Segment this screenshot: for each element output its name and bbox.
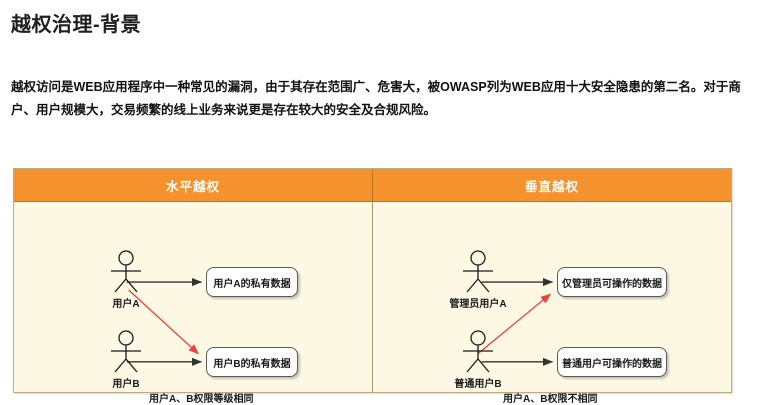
data-box-user-a-private-data: 用户A的私有数据 <box>206 267 298 297</box>
table-header-row: 水平越权 垂直越权 <box>14 169 731 202</box>
actor-label-user-a: 用户A <box>97 295 155 310</box>
table-header-horizontal: 水平越权 <box>14 169 373 201</box>
comparison-table: 水平越权 垂直越权 <box>13 168 732 393</box>
table-header-vertical: 垂直越权 <box>373 169 731 201</box>
stick-figure-icon <box>97 250 155 294</box>
stick-figure-icon <box>449 250 507 294</box>
arrow-layer-right <box>373 202 731 393</box>
stick-figure-icon <box>97 330 155 374</box>
data-box-normal-user-data: 普通用户可操作的数据 <box>557 347 667 377</box>
actor-user-a: 用户A <box>97 250 155 310</box>
actor-user-b: 用户B <box>97 330 155 390</box>
data-box-user-b-private-data: 用户B的私有数据 <box>206 347 298 377</box>
table-body-row: 用户A 用户B 用户A的私有数据 用户B的私有数据 用户A、B权限等级相同 <box>14 202 731 393</box>
actor-label-normal-user-b: 普通用户B <box>449 375 507 390</box>
actor-normal-user-b: 普通用户B <box>449 330 507 390</box>
actor-label-admin-user-a: 管理员用户A <box>449 295 507 310</box>
arrow-layer-left <box>14 202 372 393</box>
stick-figure-icon <box>449 330 507 374</box>
page-title: 越权治理-背景 <box>11 8 141 37</box>
panel-caption-horizontal: 用户A、B权限等级相同 <box>149 390 253 405</box>
actor-admin-user-a: 管理员用户A <box>449 250 507 310</box>
actor-label-user-b: 用户B <box>97 375 155 390</box>
panel-vertical-privilege-escalation: 管理员用户A 普通用户B 仅管理员可操作的数据 普通用户可操作的数据 用户A、B… <box>373 202 731 393</box>
data-box-admin-only-data: 仅管理员可操作的数据 <box>557 267 667 297</box>
panel-caption-vertical: 用户A、B权限不相同 <box>503 390 597 405</box>
intro-paragraph: 越权访问是WEB应用程序中一种常见的漏洞，由于其存在范围广、危害大，被OWASP… <box>11 76 759 122</box>
panel-horizontal-privilege-escalation: 用户A 用户B 用户A的私有数据 用户B的私有数据 用户A、B权限等级相同 <box>14 202 373 393</box>
